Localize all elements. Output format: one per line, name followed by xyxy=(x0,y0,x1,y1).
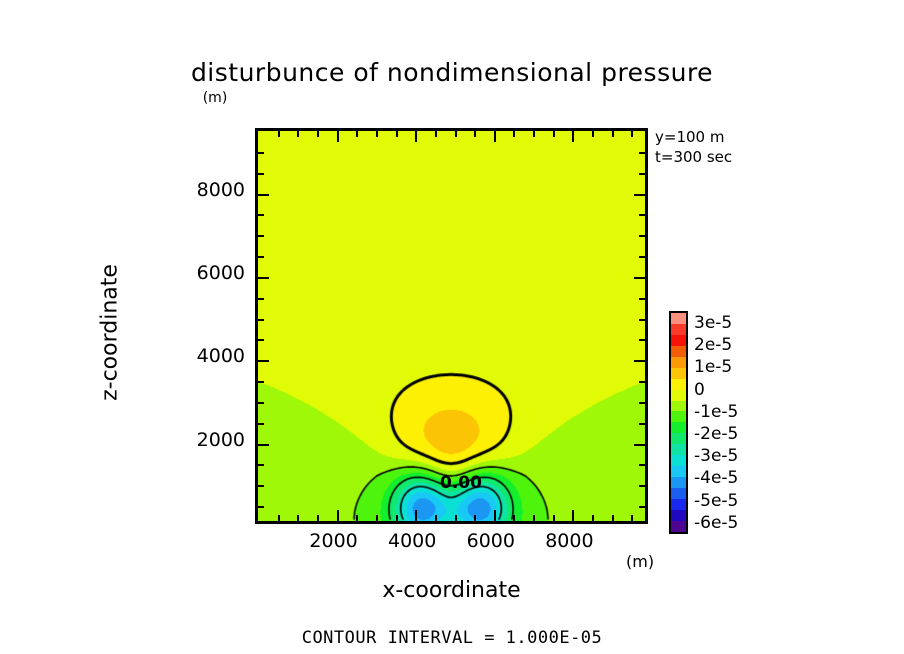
x-tick-label: 4000 xyxy=(372,530,452,552)
x-tick-label: 8000 xyxy=(529,530,609,552)
colorbar-label: 3e-5 xyxy=(694,313,732,333)
contour-level-label: 0.00 xyxy=(440,473,482,493)
colorbar-band xyxy=(671,346,686,357)
y-axis-tick-right xyxy=(639,381,645,383)
y-tick-label: 8000 xyxy=(173,179,245,201)
x-axis-tick-top xyxy=(396,131,398,137)
x-axis-tick xyxy=(612,515,614,521)
colorbar-band xyxy=(671,335,686,346)
x-axis-tick-top xyxy=(435,131,437,137)
colorbar-label: 2e-5 xyxy=(694,335,732,355)
x-axis-tick-top xyxy=(474,131,476,137)
x-axis-tick xyxy=(317,515,319,521)
x-axis-tick-top xyxy=(297,131,299,137)
x-axis-tick xyxy=(435,515,437,521)
pressure-field-canvas xyxy=(258,131,645,521)
colorbar-label: -3e-5 xyxy=(694,446,738,466)
colorbar-band xyxy=(671,433,686,444)
colorbar-band xyxy=(671,477,686,488)
x-axis-tick xyxy=(474,515,476,521)
colorbar-band xyxy=(671,510,686,521)
y-axis-tick-right xyxy=(639,485,645,487)
y-tick-label: 6000 xyxy=(173,262,245,284)
colorbar-band xyxy=(671,390,686,401)
colorbar-band xyxy=(671,313,686,324)
colorbar-band xyxy=(671,499,686,510)
y-axis-tick-right xyxy=(634,444,645,446)
colorbar-band xyxy=(671,411,686,422)
y-axis-tick xyxy=(258,423,264,425)
contour-interval-note: CONTOUR INTERVAL = 1.000E-05 xyxy=(0,628,904,648)
y-axis-tick xyxy=(258,194,269,196)
colorbar-band xyxy=(671,379,686,390)
y-axis-tick xyxy=(258,444,269,446)
colorbar-band xyxy=(671,401,686,412)
x-axis-tick xyxy=(553,515,555,521)
colorbar-band xyxy=(671,521,686,532)
y-axis-tick-right xyxy=(639,319,645,321)
x-axis-tick-top xyxy=(553,131,555,137)
x-axis-tick-top xyxy=(278,131,280,137)
contour-plot-area[interactable] xyxy=(255,128,648,524)
plot-annotation: y=100 m t=300 sec xyxy=(655,127,732,167)
x-axis-tick-top xyxy=(415,131,417,142)
y-tick-label: 4000 xyxy=(173,345,245,367)
x-axis-tick xyxy=(533,515,535,521)
y-axis-tick xyxy=(258,381,264,383)
colorbar-gradient xyxy=(669,311,688,534)
colorbar-band xyxy=(671,324,686,335)
x-axis-tick-top xyxy=(572,131,574,142)
y-tick-label: 2000 xyxy=(173,429,245,451)
y-axis-tick xyxy=(258,402,264,404)
y-axis-tick-right xyxy=(639,256,645,258)
x-axis-tick xyxy=(415,510,417,521)
x-axis-tick xyxy=(278,515,280,521)
colorbar-band xyxy=(671,422,686,433)
colorbar xyxy=(669,311,688,534)
x-axis-tick-top xyxy=(494,131,496,142)
y-axis-tick-right xyxy=(639,235,645,237)
y-axis-tick xyxy=(258,152,264,154)
y-axis-tick-right xyxy=(639,173,645,175)
x-axis-tick xyxy=(592,515,594,521)
y-axis-tick-right xyxy=(639,152,645,154)
y-axis-title: z-coordinate xyxy=(98,213,123,453)
x-axis-tick xyxy=(572,510,574,521)
x-axis-tick-top xyxy=(513,131,515,137)
y-axis-tick xyxy=(258,298,264,300)
x-axis-tick xyxy=(356,515,358,521)
colorbar-label: -6e-5 xyxy=(694,513,738,533)
x-axis-tick xyxy=(337,510,339,521)
colorbar-label: -2e-5 xyxy=(694,424,738,444)
y-axis-tick-right xyxy=(639,464,645,466)
colorbar-label: 0 xyxy=(694,380,705,400)
x-axis-tick-top xyxy=(455,131,457,137)
y-axis-tick-right xyxy=(639,214,645,216)
x-axis-tick-top xyxy=(356,131,358,137)
title-units-label: (m) xyxy=(0,90,430,106)
y-axis-tick-right xyxy=(634,360,645,362)
y-axis-tick xyxy=(258,214,264,216)
x-axis-tick xyxy=(376,515,378,521)
x-axis-tick xyxy=(494,510,496,521)
x-axis-units-label: (m) xyxy=(626,552,654,571)
y-axis-tick xyxy=(258,256,264,258)
y-axis-tick-right xyxy=(634,194,645,196)
colorbar-label: -5e-5 xyxy=(694,491,738,511)
y-axis-tick xyxy=(258,173,264,175)
colorbar-band xyxy=(671,488,686,499)
x-axis-tick-top xyxy=(376,131,378,137)
colorbar-band xyxy=(671,466,686,477)
x-axis-tick-top xyxy=(592,131,594,137)
y-axis-tick xyxy=(258,339,264,341)
x-axis-title: x-coordinate xyxy=(255,578,648,603)
x-tick-label: 2000 xyxy=(294,530,374,552)
y-axis-tick-right xyxy=(639,298,645,300)
colorbar-band xyxy=(671,357,686,368)
x-axis-tick xyxy=(513,515,515,521)
y-axis-tick xyxy=(258,360,269,362)
x-tick-label: 6000 xyxy=(451,530,531,552)
y-axis-tick xyxy=(258,464,264,466)
colorbar-label: -1e-5 xyxy=(694,402,738,422)
x-axis-tick-top xyxy=(337,131,339,142)
x-axis-tick-top xyxy=(533,131,535,137)
y-axis-tick-right xyxy=(639,339,645,341)
x-axis-tick xyxy=(396,515,398,521)
y-axis-tick xyxy=(258,319,264,321)
y-axis-tick xyxy=(258,277,269,279)
colorbar-label: -4e-5 xyxy=(694,468,738,488)
annotation-t-value: t=300 sec xyxy=(655,147,732,167)
page-title: disturbunce of nondimensional pressure xyxy=(0,58,904,87)
colorbar-label: 1e-5 xyxy=(694,357,732,377)
y-axis-tick-right xyxy=(639,423,645,425)
colorbar-band xyxy=(671,455,686,466)
colorbar-band xyxy=(671,444,686,455)
x-axis-tick xyxy=(455,515,457,521)
y-axis-tick xyxy=(258,235,264,237)
colorbar-band xyxy=(671,368,686,379)
x-axis-tick-top xyxy=(612,131,614,137)
x-axis-tick xyxy=(631,515,633,521)
x-axis-tick-top xyxy=(631,131,633,137)
x-axis-tick-top xyxy=(317,131,319,137)
annotation-y-value: y=100 m xyxy=(655,127,732,147)
y-axis-tick xyxy=(258,485,264,487)
y-axis-tick-right xyxy=(639,506,645,508)
y-axis-tick-right xyxy=(634,277,645,279)
y-axis-tick xyxy=(258,506,264,508)
x-axis-tick xyxy=(297,515,299,521)
y-axis-tick-right xyxy=(639,402,645,404)
